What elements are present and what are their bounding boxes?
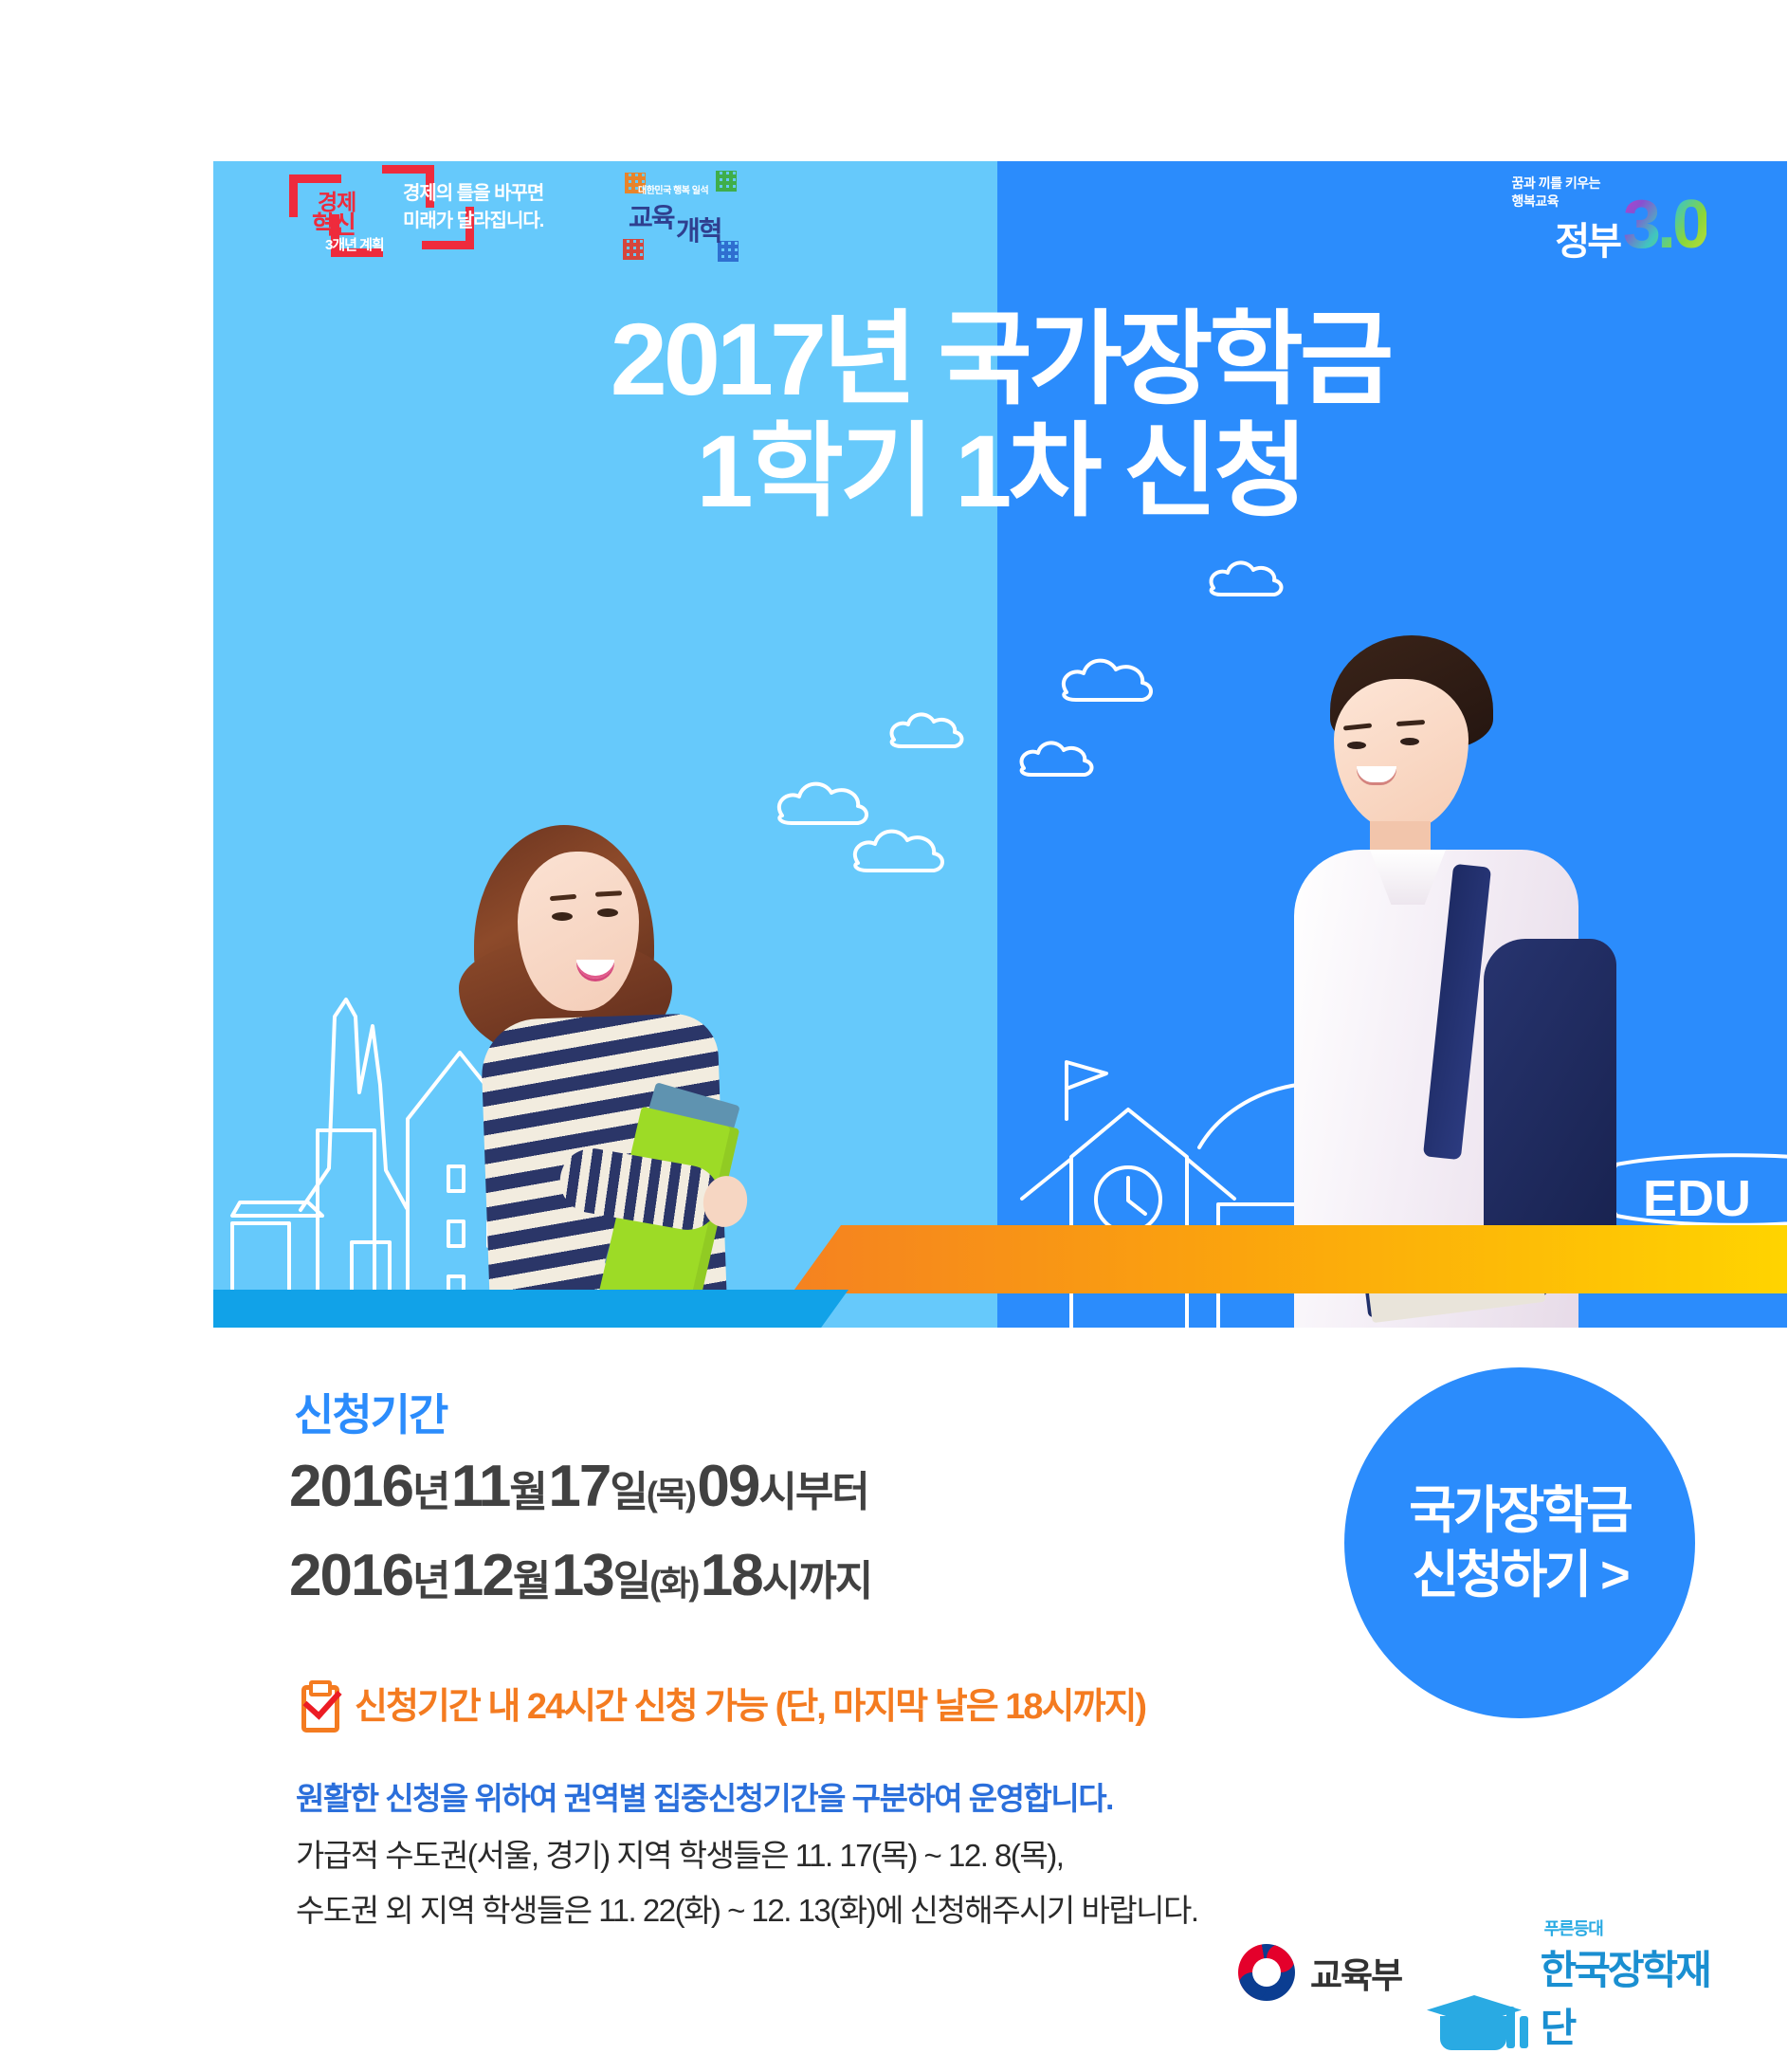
- government-logo-word: 정부: [1555, 211, 1619, 266]
- boy-backpack: [1484, 939, 1616, 1252]
- start-day: 17: [548, 1454, 610, 1519]
- boy-face: [1334, 679, 1469, 831]
- government-logo-version: 3.0: [1623, 186, 1706, 264]
- taegeuk-center: [1252, 1958, 1281, 1987]
- end-day-unit: 일: [613, 1558, 649, 1604]
- availability-note-text: 신청기간 내 24시간 신청 가능 (단, 마지막 날은 18시까지): [355, 1677, 1145, 1729]
- end-month-unit: 월: [513, 1558, 549, 1604]
- education-reform-logo: 대한민국 행복 일석 교육 개혁: [621, 169, 744, 264]
- blue-accent-band: [213, 1290, 848, 1328]
- male-student-photo: [1228, 626, 1626, 1328]
- end-year-unit: 년: [412, 1558, 448, 1604]
- application-start-date: 2016년 11월 17일(목) 09시부터: [289, 1453, 868, 1520]
- reform-square-green: [716, 171, 737, 192]
- government-30-logo: 꿈과 끼를 키우는 행복교육 정부 3.0: [1479, 169, 1706, 273]
- reform-logo-big1: 교육: [629, 197, 674, 235]
- hero-logo-row: 경제 혁신 3개년 계획 경제의 틀을 바꾸면 미래가 달라집니다. 대한민국 …: [213, 161, 1787, 284]
- end-hour: 18: [701, 1543, 762, 1608]
- end-year: 2016: [289, 1543, 412, 1608]
- cta-line-2: 신청하기 >: [1412, 1543, 1627, 1607]
- start-month: 11: [451, 1454, 510, 1519]
- reform-square-red: [623, 239, 644, 260]
- economy-slogan: 경제의 틀을 바꾸면 미래가 달라집니다.: [403, 180, 543, 235]
- guidance-line-1: 원활한 신청을 위하여 권역별 집중신청기간을 구분하여 운영합니다.: [296, 1773, 1113, 1819]
- start-weekday: (목): [647, 1475, 695, 1513]
- kosaf-text-group: 푸른등대 한국장학재단: [1541, 1938, 1735, 2054]
- availability-note: 신청기간 내 24시간 신청 가능 (단, 마지막 날은 18시까지): [301, 1677, 1145, 1729]
- kosaf-label: 한국장학재단: [1541, 1948, 1709, 2050]
- cta-line-1: 국가장학금: [1409, 1478, 1630, 1543]
- start-year: 2016: [289, 1454, 412, 1519]
- start-day-unit: 일: [610, 1469, 646, 1515]
- female-student-photo: [446, 797, 825, 1328]
- guidance-line-3: 수도권 외 지역 학생들은 11. 22(화) ~ 12. 13(화)에 신청해…: [296, 1885, 1198, 1931]
- kosaf-logo: 푸른등대 한국장학재단: [1427, 1938, 1735, 2054]
- footer-logos: 교육부 푸른등대 한국장학재단: [1223, 1944, 1735, 2029]
- cap-tassel-2: [1520, 2016, 1528, 2048]
- ministry-of-education-logo: 교육부: [1238, 1944, 1401, 2001]
- start-month-unit: 월: [509, 1469, 545, 1515]
- ministry-of-education-label: 교육부: [1310, 1947, 1401, 1998]
- application-end-date: 2016년 12월 13일(화) 18시까지: [289, 1542, 871, 1609]
- girl-eye-right: [597, 908, 618, 917]
- girl-eye-left: [552, 912, 573, 921]
- cap-tassel-1: [1506, 2007, 1515, 2048]
- graduation-cap-icon: [1427, 1991, 1529, 2054]
- guidance-line-2: 가급적 수도권(서울, 경기) 지역 학생들은 11. 17(목) ~ 12. …: [296, 1830, 1063, 1876]
- reform-logo-small: 대한민국 행복 일석: [638, 182, 708, 196]
- government-logo-tagline: 꿈과 끼를 키우는 행복교육: [1512, 174, 1600, 211]
- reform-logo-big2: 개혁: [676, 211, 721, 248]
- girl-face: [518, 852, 639, 1011]
- application-period-label: 신청기간: [294, 1381, 447, 1443]
- boy-eye-right: [1400, 738, 1419, 745]
- orange-accent-band: [792, 1225, 1787, 1293]
- apply-scholarship-button[interactable]: 국가장학금 신청하기 >: [1344, 1367, 1695, 1718]
- cap-base: [1440, 2016, 1506, 2050]
- boy-eye-left: [1347, 742, 1366, 749]
- kosaf-tagline: 푸른등대: [1544, 1916, 1603, 1940]
- start-hour: 09: [697, 1454, 758, 1519]
- start-year-unit: 년: [412, 1469, 448, 1515]
- hero-headline: 2017년 국가장학금 1학기 1차 신청: [213, 303, 1787, 527]
- taegeuk-icon: [1238, 1944, 1295, 2001]
- checklist-icon: [301, 1680, 338, 1726]
- end-day: 13: [552, 1543, 613, 1608]
- start-hour-unit: 시부터: [758, 1469, 867, 1515]
- end-hour-unit: 시까지: [762, 1558, 871, 1604]
- economy-logo-line3: 3개년 계획: [325, 234, 384, 254]
- hero-banner: EDU 경제 혁신 3개년 계획 경제의 틀을 바꾸면 미래가 달라집니다. 대…: [213, 161, 1787, 1328]
- end-month: 12: [451, 1543, 513, 1608]
- end-weekday: (화): [649, 1564, 698, 1603]
